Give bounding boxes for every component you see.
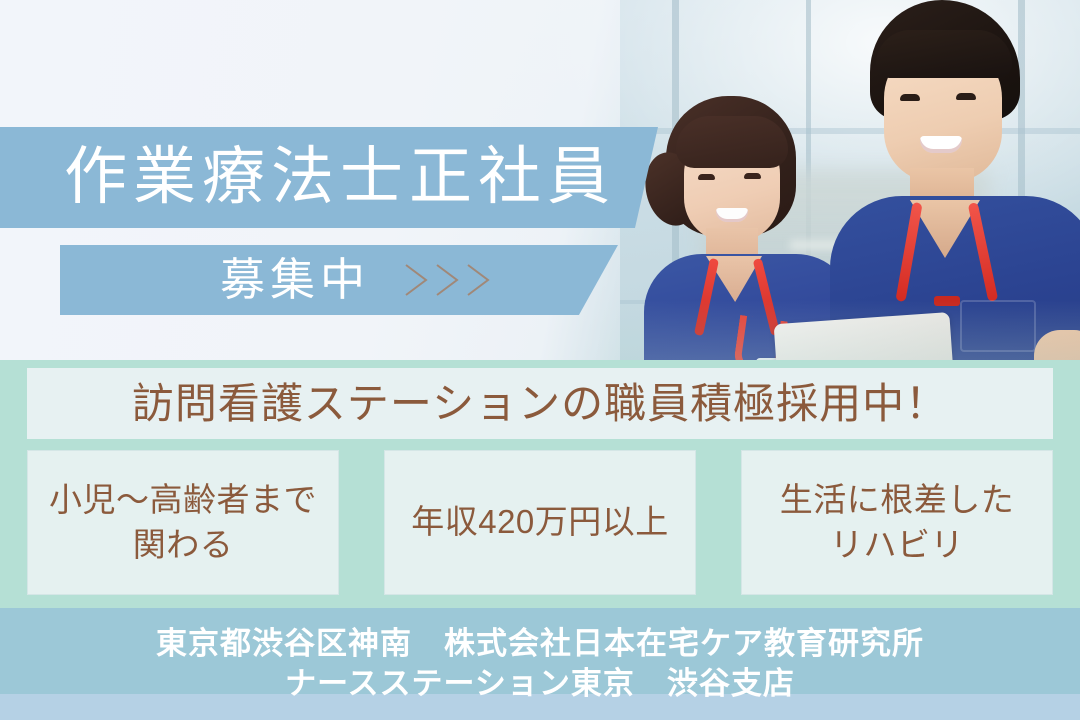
footer-branch-line: ナースステーション東京 渋谷支店: [285, 667, 795, 701]
headline-text: 訪問看護ステーションの職員積極採用中！: [132, 383, 948, 425]
recruiting-label: 募集中: [220, 258, 370, 303]
footer: 東京都渋谷区神南 株式会社日本在宅ケア教育研究所 ナースステーション東京 渋谷支…: [0, 608, 1080, 720]
feature-line: 関わる: [133, 526, 234, 563]
smile: [716, 208, 748, 222]
chevron-right-icon: [435, 263, 461, 297]
feature-text: 小児〜高齢者まで 関わる: [49, 478, 317, 567]
feature-text: 年収420万円以上: [411, 500, 669, 545]
feature-text: 生活に根差した リハビリ: [780, 478, 1015, 567]
fringe: [876, 30, 1012, 78]
smile: [920, 136, 962, 153]
feature-box-list: 小児〜高齢者まで 関わる 年収420万円以上 生活に根差した リハビリ: [27, 450, 1053, 595]
recruiting-band: 募集中: [60, 245, 618, 315]
footer-company-line: 東京都渋谷区神南 株式会社日本在宅ケア教育研究所: [156, 627, 924, 661]
feature-box: 小児〜高齢者まで 関わる: [27, 450, 339, 595]
feature-line: 年収420万円以上: [411, 503, 669, 540]
chevron-right-icon: [404, 263, 430, 297]
feature-line: 生活に根差した: [780, 481, 1015, 518]
eye: [900, 94, 920, 101]
eye: [698, 174, 715, 180]
feature-line: リハビリ: [830, 526, 964, 563]
title-band: 作業療法士正社員: [0, 127, 658, 228]
fringe: [676, 116, 788, 168]
eye: [744, 173, 761, 179]
feature-line: 小児〜高齢者まで: [49, 481, 317, 518]
recruitment-banner: 作業療法士正社員 募集中 訪問看護ステーションの職員積極採用中！ 小児〜高齢者ま…: [0, 0, 1080, 720]
feature-box: 年収420万円以上: [384, 450, 696, 595]
page-title: 作業療法士正社員: [64, 146, 616, 209]
headline-panel: 訪問看護ステーションの職員積極採用中！: [27, 368, 1053, 439]
feature-box: 生活に根差した リハビリ: [741, 450, 1053, 595]
eye: [956, 93, 976, 100]
highlights-section: 訪問看護ステーションの職員積極採用中！ 小児〜高齢者まで 関わる 年収420万円…: [0, 360, 1080, 608]
chevron-right-icon: [466, 263, 492, 297]
chevron-group: [404, 263, 497, 297]
